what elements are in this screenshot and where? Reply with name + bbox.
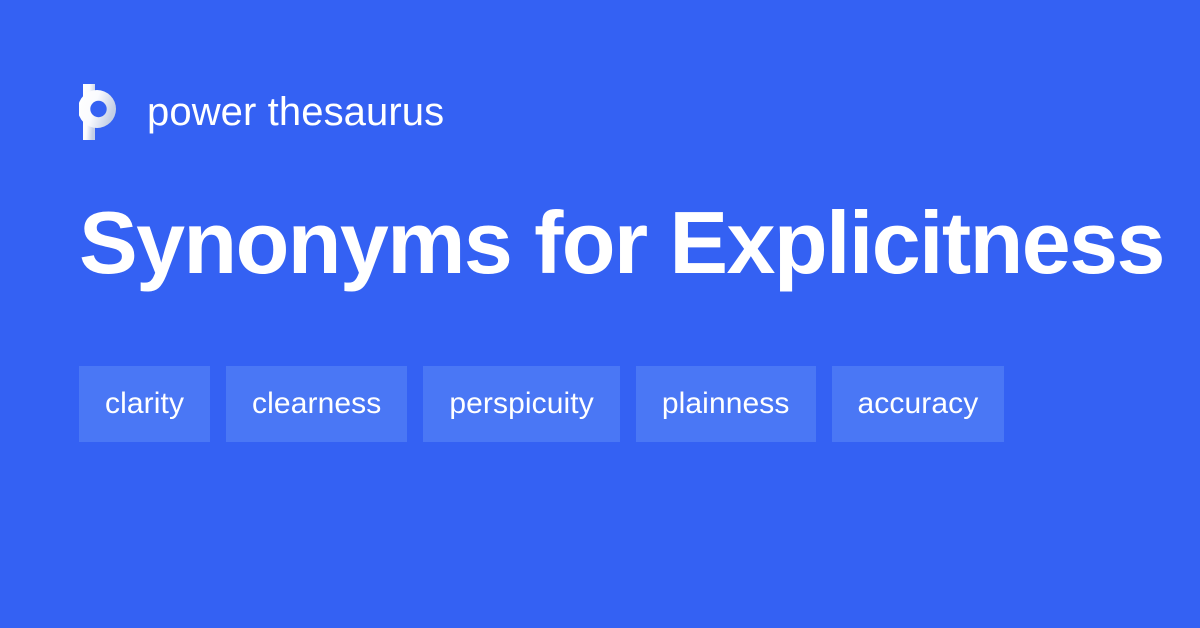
page-title: Synonyms for Explicitness xyxy=(79,196,1164,289)
synonym-chip[interactable]: perspicuity xyxy=(423,366,620,442)
synonym-chip[interactable]: accuracy xyxy=(832,366,1005,442)
power-thesaurus-logo-icon xyxy=(79,84,125,140)
synonym-chip[interactable]: clarity xyxy=(79,366,210,442)
synonym-chip-list: clarity clearness perspicuity plainness … xyxy=(79,366,1119,442)
brand-name: power thesaurus xyxy=(147,92,444,132)
share-card: power thesaurus Synonyms for Explicitnes… xyxy=(0,0,1200,628)
synonym-chip[interactable]: clearness xyxy=(226,366,407,442)
brand-lockup[interactable]: power thesaurus xyxy=(79,84,444,140)
synonym-chip[interactable]: plainness xyxy=(636,366,816,442)
